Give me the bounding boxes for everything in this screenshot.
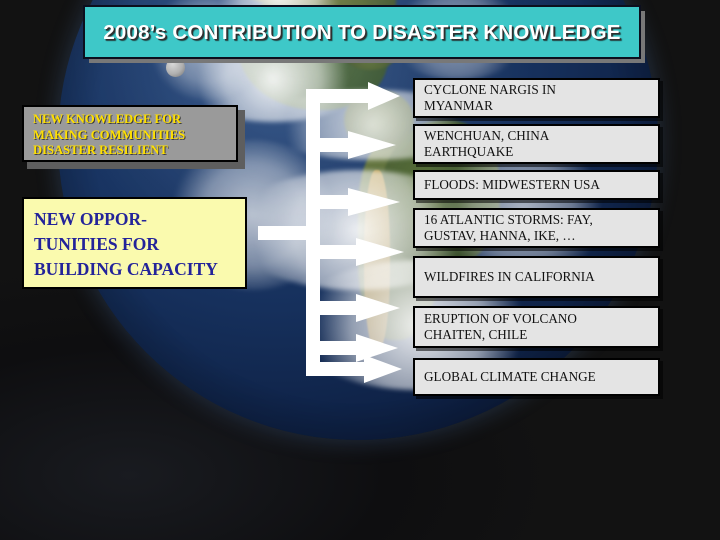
event-item-floods-midwestern-usa[interactable]: FLOODS: MIDWESTERN USA	[413, 170, 660, 200]
opportunity-callout-box: NEW OPPOR- TUNITIES FOR BUILDING CAPACIT…	[22, 197, 247, 289]
event-line: GUSTAV, HANNA, IKE, …	[424, 228, 658, 245]
page-title: 2008’s CONTRIBUTION TO DISASTER KNOWLEDG…	[97, 21, 626, 44]
opportunity-line-3: BUILDING CAPACITY	[34, 257, 239, 282]
slide-title-bar: 2008’s CONTRIBUTION TO DISASTER KNOWLEDG…	[83, 5, 641, 59]
opportunity-line-2: TUNITIES FOR	[34, 232, 239, 257]
event-item-global-climate-change[interactable]: GLOBAL CLIMATE CHANGE	[413, 358, 660, 396]
knowledge-line-3: DISASTER RESILIENT	[33, 143, 230, 159]
opportunity-line-1: NEW OPPOR-	[34, 207, 239, 232]
event-line: CYCLONE NARGIS IN	[424, 82, 658, 99]
event-line: CHAITEN, CHILE	[424, 327, 658, 344]
knowledge-line-2: MAKING COMMUNITIES	[33, 128, 230, 144]
event-line: WILDFIRES IN CALIFORNIA	[424, 269, 658, 286]
event-line: GLOBAL CLIMATE CHANGE	[424, 369, 658, 386]
landmass-nw-south-america	[344, 90, 414, 150]
event-line: FLOODS: MIDWESTERN USA	[424, 177, 658, 194]
event-item-wildfires-california[interactable]: WILDFIRES IN CALIFORNIA	[413, 256, 660, 298]
slide: 2008’s CONTRIBUTION TO DISASTER KNOWLEDG…	[0, 0, 720, 540]
landmass-andes	[364, 170, 390, 350]
event-line: WENCHUAN, CHINA	[424, 128, 658, 145]
event-line: MYANMAR	[424, 98, 658, 115]
event-line: ERUPTION OF VOLCANO	[424, 311, 658, 328]
event-item-atlantic-storms[interactable]: 16 ATLANTIC STORMS: FAY, GUSTAV, HANNA, …	[413, 208, 660, 248]
event-item-wenchuan-earthquake[interactable]: WENCHUAN, CHINA EARTHQUAKE	[413, 124, 660, 164]
knowledge-line-1: NEW KNOWLEDGE FOR	[33, 112, 230, 128]
event-item-volcano-chaiten[interactable]: ERUPTION OF VOLCANO CHAITEN, CHILE	[413, 306, 660, 348]
event-item-cyclone-nargis[interactable]: CYCLONE NARGIS IN MYANMAR	[413, 78, 660, 118]
event-line: EARTHQUAKE	[424, 144, 658, 161]
knowledge-callout-box: NEW KNOWLEDGE FOR MAKING COMMUNITIES DIS…	[22, 105, 238, 162]
event-line: 16 ATLANTIC STORMS: FAY,	[424, 212, 658, 229]
